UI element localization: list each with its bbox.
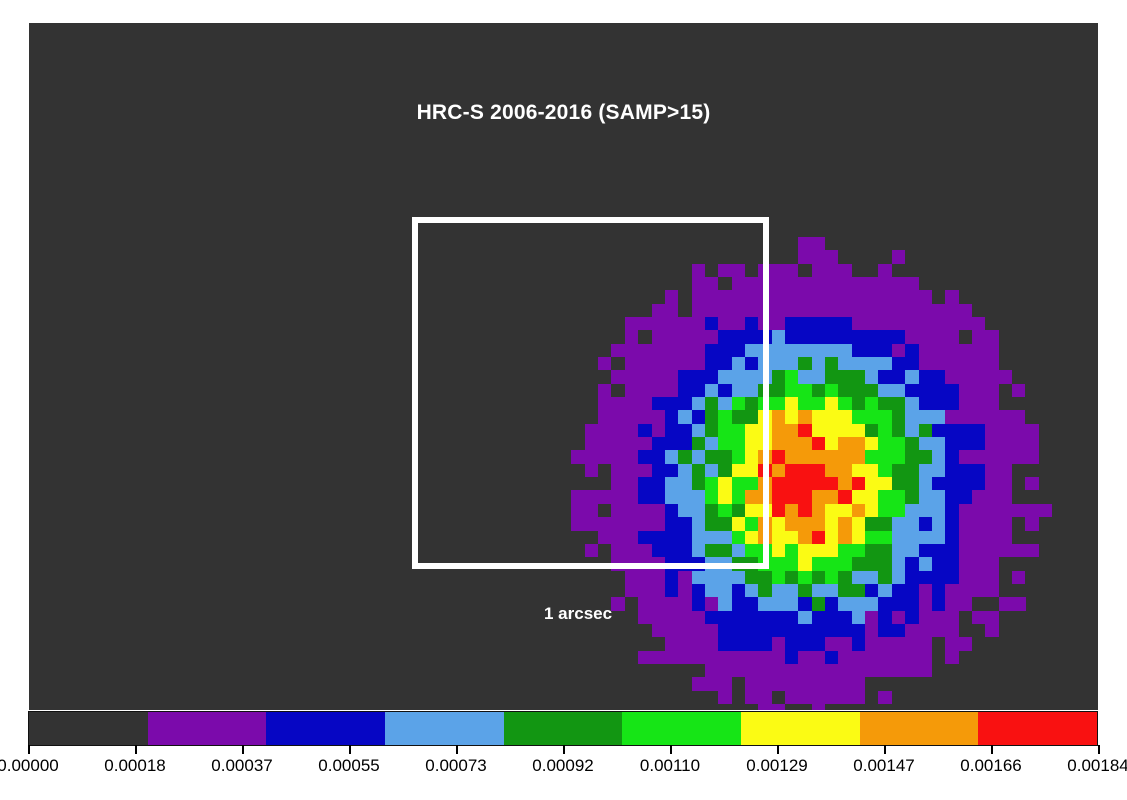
colorbar-swatch-6 (741, 712, 860, 745)
page-title: HRC-S 2006-2016 (SAMP>15) (29, 101, 1098, 125)
region-rectangle-overlay (412, 217, 769, 569)
colorbar-tick-labels: 0.000000.000180.000370.000550.000730.000… (0, 756, 1127, 780)
colorbar-tick-2 (242, 745, 244, 754)
colorbar-swatches (28, 711, 1098, 746)
colorbar-tick-label-5: 0.00092 (532, 756, 593, 776)
colorbar-tick-0 (28, 745, 30, 754)
colorbar (28, 711, 1098, 746)
colorbar-swatch-8 (978, 712, 1097, 745)
psf-image-panel: HRC-S 2006-2016 (SAMP>15) 1 arcsec (29, 23, 1098, 710)
colorbar-swatch-0 (29, 712, 148, 745)
colorbar-tick-label-10: 0.00184 (1067, 756, 1127, 776)
colorbar-tick-1 (135, 745, 137, 754)
colorbar-tick-5 (563, 745, 565, 754)
colorbar-tick-label-9: 0.00166 (960, 756, 1021, 776)
colorbar-tick-label-7: 0.00129 (746, 756, 807, 776)
colorbar-tick-8 (884, 745, 886, 754)
colorbar-tick-10 (1098, 745, 1100, 754)
colorbar-tick-6 (670, 745, 672, 754)
colorbar-tick-label-8: 0.00147 (853, 756, 914, 776)
colorbar-tick-4 (456, 745, 458, 754)
colorbar-tick-3 (349, 745, 351, 754)
colorbar-ticks (28, 745, 1098, 754)
colorbar-tick-label-4: 0.00073 (425, 756, 486, 776)
colorbar-swatch-5 (622, 712, 741, 745)
colorbar-tick-label-0: 0.00000 (0, 756, 59, 776)
colorbar-swatch-1 (148, 712, 267, 745)
colorbar-tick-9 (991, 745, 993, 754)
colorbar-tick-label-3: 0.00055 (318, 756, 379, 776)
colorbar-tick-7 (777, 745, 779, 754)
colorbar-swatch-2 (266, 712, 385, 745)
colorbar-swatch-7 (860, 712, 979, 745)
colorbar-tick-label-6: 0.00110 (640, 756, 700, 776)
scale-bar-label: 1 arcsec (544, 604, 612, 624)
colorbar-tick-label-2: 0.00037 (211, 756, 272, 776)
colorbar-swatch-4 (504, 712, 623, 745)
colorbar-tick-label-1: 0.00018 (104, 756, 165, 776)
colorbar-swatch-3 (385, 712, 504, 745)
